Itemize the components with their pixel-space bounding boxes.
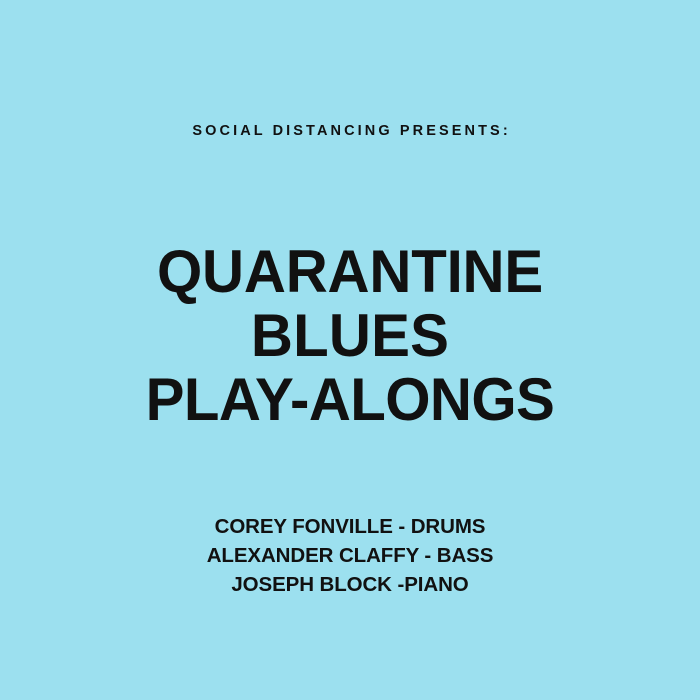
- personnel-credits: COREY FONVILLE - DRUMS ALEXANDER CLAFFY …: [0, 512, 700, 599]
- presenter-label: SOCIAL DISTANCING PRESENTS:: [0, 122, 700, 140]
- album-title-line-3: PLAY-ALONGS: [11, 368, 690, 432]
- album-title-line-1: QUARANTINE: [11, 240, 690, 304]
- album-title: QUARANTINE BLUES PLAY-ALONGS: [0, 240, 700, 432]
- credit-line-drums: COREY FONVILLE - DRUMS: [0, 512, 700, 541]
- album-title-line-2: BLUES: [11, 304, 690, 368]
- album-cover-artwork: SOCIAL DISTANCING PRESENTS: QUARANTINE B…: [0, 0, 700, 700]
- credit-line-bass: ALEXANDER CLAFFY - BASS: [0, 541, 700, 570]
- credit-line-piano: JOSEPH BLOCK -PIANO: [0, 570, 700, 599]
